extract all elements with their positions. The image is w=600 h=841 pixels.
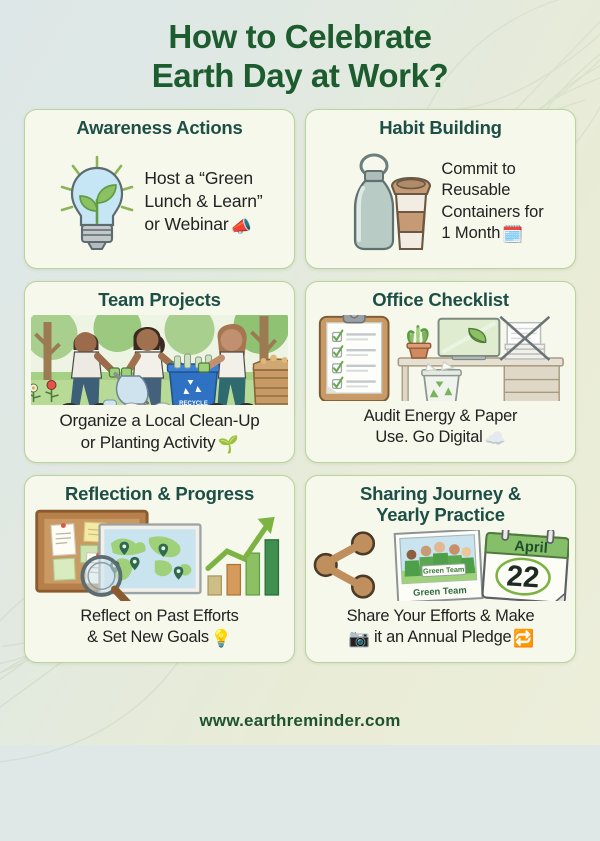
caption-line-2: it an Annual Pledge bbox=[374, 628, 511, 646]
caption-line-2: Use. Go Digital bbox=[375, 428, 482, 446]
infographic-page: How to Celebrate Earth Day at Work? Awar… bbox=[0, 0, 600, 745]
caption-line-2: or Planting Activity bbox=[81, 433, 216, 452]
calendar-day-label: 22 bbox=[506, 560, 541, 595]
volunteers-cleanup-scene: RECYCLE bbox=[31, 315, 288, 405]
card-team-projects-caption: Organize a Local Clean-Up or Planting Ac… bbox=[31, 405, 288, 462]
office-desk-checklist-scene bbox=[312, 315, 569, 401]
text-line-3: or Webinar bbox=[144, 214, 228, 234]
text-line-1: Commit to bbox=[441, 160, 515, 178]
lightbulb-idea-icon: 💡 bbox=[211, 629, 232, 648]
camera-icon: 📷 bbox=[349, 629, 370, 648]
card-habit-body: Commit to Reusable Containers for 1 Mont… bbox=[312, 143, 569, 262]
card-office-checklist[interactable]: Office Checklist bbox=[305, 281, 576, 463]
text-line-4: 1 Month bbox=[441, 224, 500, 242]
card-title-team-projects: Team Projects bbox=[98, 290, 221, 311]
caption-line-1: Audit Energy & Paper bbox=[364, 407, 518, 425]
text-line-1: Host a “Green bbox=[144, 168, 253, 188]
text-line-3: Containers for bbox=[441, 203, 543, 221]
card-reflection-caption: Reflect on Past Efforts & Set New Goals💡 bbox=[31, 601, 288, 656]
reusable-containers-icon bbox=[337, 150, 435, 255]
megaphone-icon: 📣 bbox=[231, 217, 252, 236]
card-team-projects[interactable]: Team Projects bbox=[24, 281, 295, 463]
text-line-2: Reusable bbox=[441, 181, 510, 199]
card-title-habit-building: Habit Building bbox=[379, 118, 502, 139]
card-title-line-2: Yearly Practice bbox=[376, 504, 505, 525]
caption-line-1: Organize a Local Clean-Up bbox=[59, 411, 259, 430]
cards-grid: Awareness Actions bbox=[24, 109, 576, 663]
card-title-office-checklist: Office Checklist bbox=[372, 290, 509, 311]
card-title-line-1: Sharing Journey & bbox=[360, 483, 521, 504]
calendar-month-label: April bbox=[514, 539, 549, 557]
lightbulb-leaf-icon bbox=[56, 153, 138, 253]
text-line-2: Lunch & Learn” bbox=[144, 191, 262, 211]
card-office-checklist-caption: Audit Energy & Paper Use. Go Digital☁️ bbox=[312, 401, 569, 456]
card-sharing-journey[interactable]: Sharing Journey & Yearly Practice bbox=[305, 475, 576, 663]
footer-website[interactable]: www.earthreminder.com bbox=[24, 699, 576, 745]
page-title: How to Celebrate Earth Day at Work? bbox=[24, 18, 576, 95]
caption-line-1: Reflect on Past Efforts bbox=[80, 607, 238, 625]
cloud-upload-icon: ☁️ bbox=[485, 429, 506, 448]
seedling-icon: 🌱 bbox=[217, 435, 238, 454]
card-title-reflection-progress: Reflection & Progress bbox=[65, 484, 254, 505]
caption-line-2: & Set New Goals bbox=[87, 628, 209, 646]
card-reflection-progress[interactable]: Reflection & Progress bbox=[24, 475, 295, 663]
card-title-sharing-journey: Sharing Journey & Yearly Practice bbox=[360, 484, 521, 525]
page-title-line-1: How to Celebrate bbox=[24, 18, 576, 57]
caption-line-1: Share Your Efforts & Make bbox=[347, 607, 535, 625]
page-title-line-2: Earth Day at Work? bbox=[24, 57, 576, 96]
card-habit-text: Commit to Reusable Containers for 1 Mont… bbox=[441, 159, 543, 246]
corkboard-map-chart-scene bbox=[31, 509, 288, 601]
card-title-awareness-actions: Awareness Actions bbox=[76, 118, 242, 139]
card-awareness-body: Host a “Green Lunch & Learn” or Webinar📣 bbox=[31, 143, 288, 262]
card-habit-building[interactable]: Habit Building bbox=[305, 109, 576, 269]
recycle-arrows-icon: 🔁 bbox=[513, 629, 534, 648]
share-photo-calendar-scene: Green Team Green Team April 22 bbox=[312, 530, 569, 601]
card-awareness-actions[interactable]: Awareness Actions bbox=[24, 109, 295, 269]
card-sharing-caption: Share Your Efforts & Make 📷 it an Annual… bbox=[312, 601, 569, 656]
card-awareness-text: Host a “Green Lunch & Learn” or Webinar📣 bbox=[144, 167, 262, 238]
calendar-check-icon: 🗓️ bbox=[502, 225, 523, 244]
